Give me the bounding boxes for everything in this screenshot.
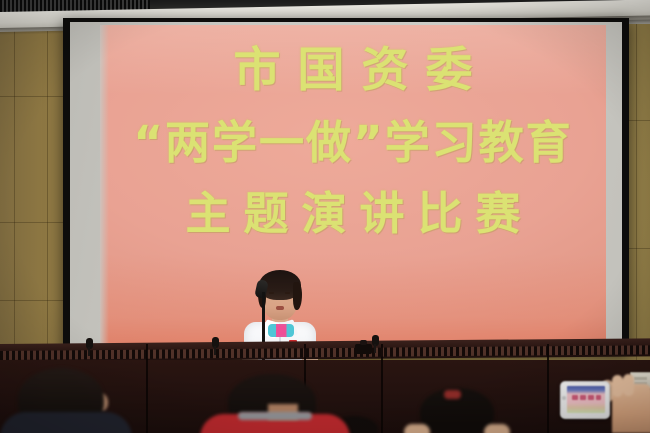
speaker-mouth	[276, 306, 284, 310]
phone-camera-lens-icon	[562, 396, 566, 400]
speaker-scarf-knot	[277, 326, 286, 335]
photo-scene: 市国资委 “两学一做”学习教育 主题演讲比赛	[0, 0, 650, 433]
wall-seam	[626, 120, 650, 121]
speaker-hair-right	[293, 282, 302, 310]
podium-panel-seam	[381, 344, 383, 433]
smartphone[interactable]	[560, 381, 610, 419]
speaker-eye-right	[285, 292, 290, 294]
audience-hair-tie	[444, 390, 461, 399]
wall-seam	[636, 24, 637, 374]
desk-microphone-center-icon	[212, 337, 219, 348]
podium-panel-seam	[146, 344, 148, 433]
wall-seam	[0, 300, 64, 301]
desk-camera-device	[355, 344, 372, 354]
hand-finger	[612, 375, 623, 397]
audience-torso	[0, 412, 132, 433]
wall-seam	[626, 248, 650, 249]
desk-microphone-left-icon	[86, 338, 93, 349]
podium-panel-seam	[547, 344, 549, 433]
desk-microphone-right-icon	[372, 335, 379, 346]
wall-seam	[47, 24, 48, 370]
phone-screen[interactable]	[567, 386, 605, 413]
wall-seam	[0, 96, 64, 97]
wall-seam	[0, 222, 64, 223]
hand-finger	[623, 374, 634, 396]
projected-slide	[100, 25, 606, 343]
speaker-eye-left	[269, 292, 274, 294]
audience-shoulder-right	[484, 424, 510, 433]
projection-edge-falloff	[100, 25, 109, 343]
audience-collar	[238, 412, 312, 420]
audience-shoulder-left	[404, 424, 430, 433]
wall-seam	[14, 24, 15, 370]
